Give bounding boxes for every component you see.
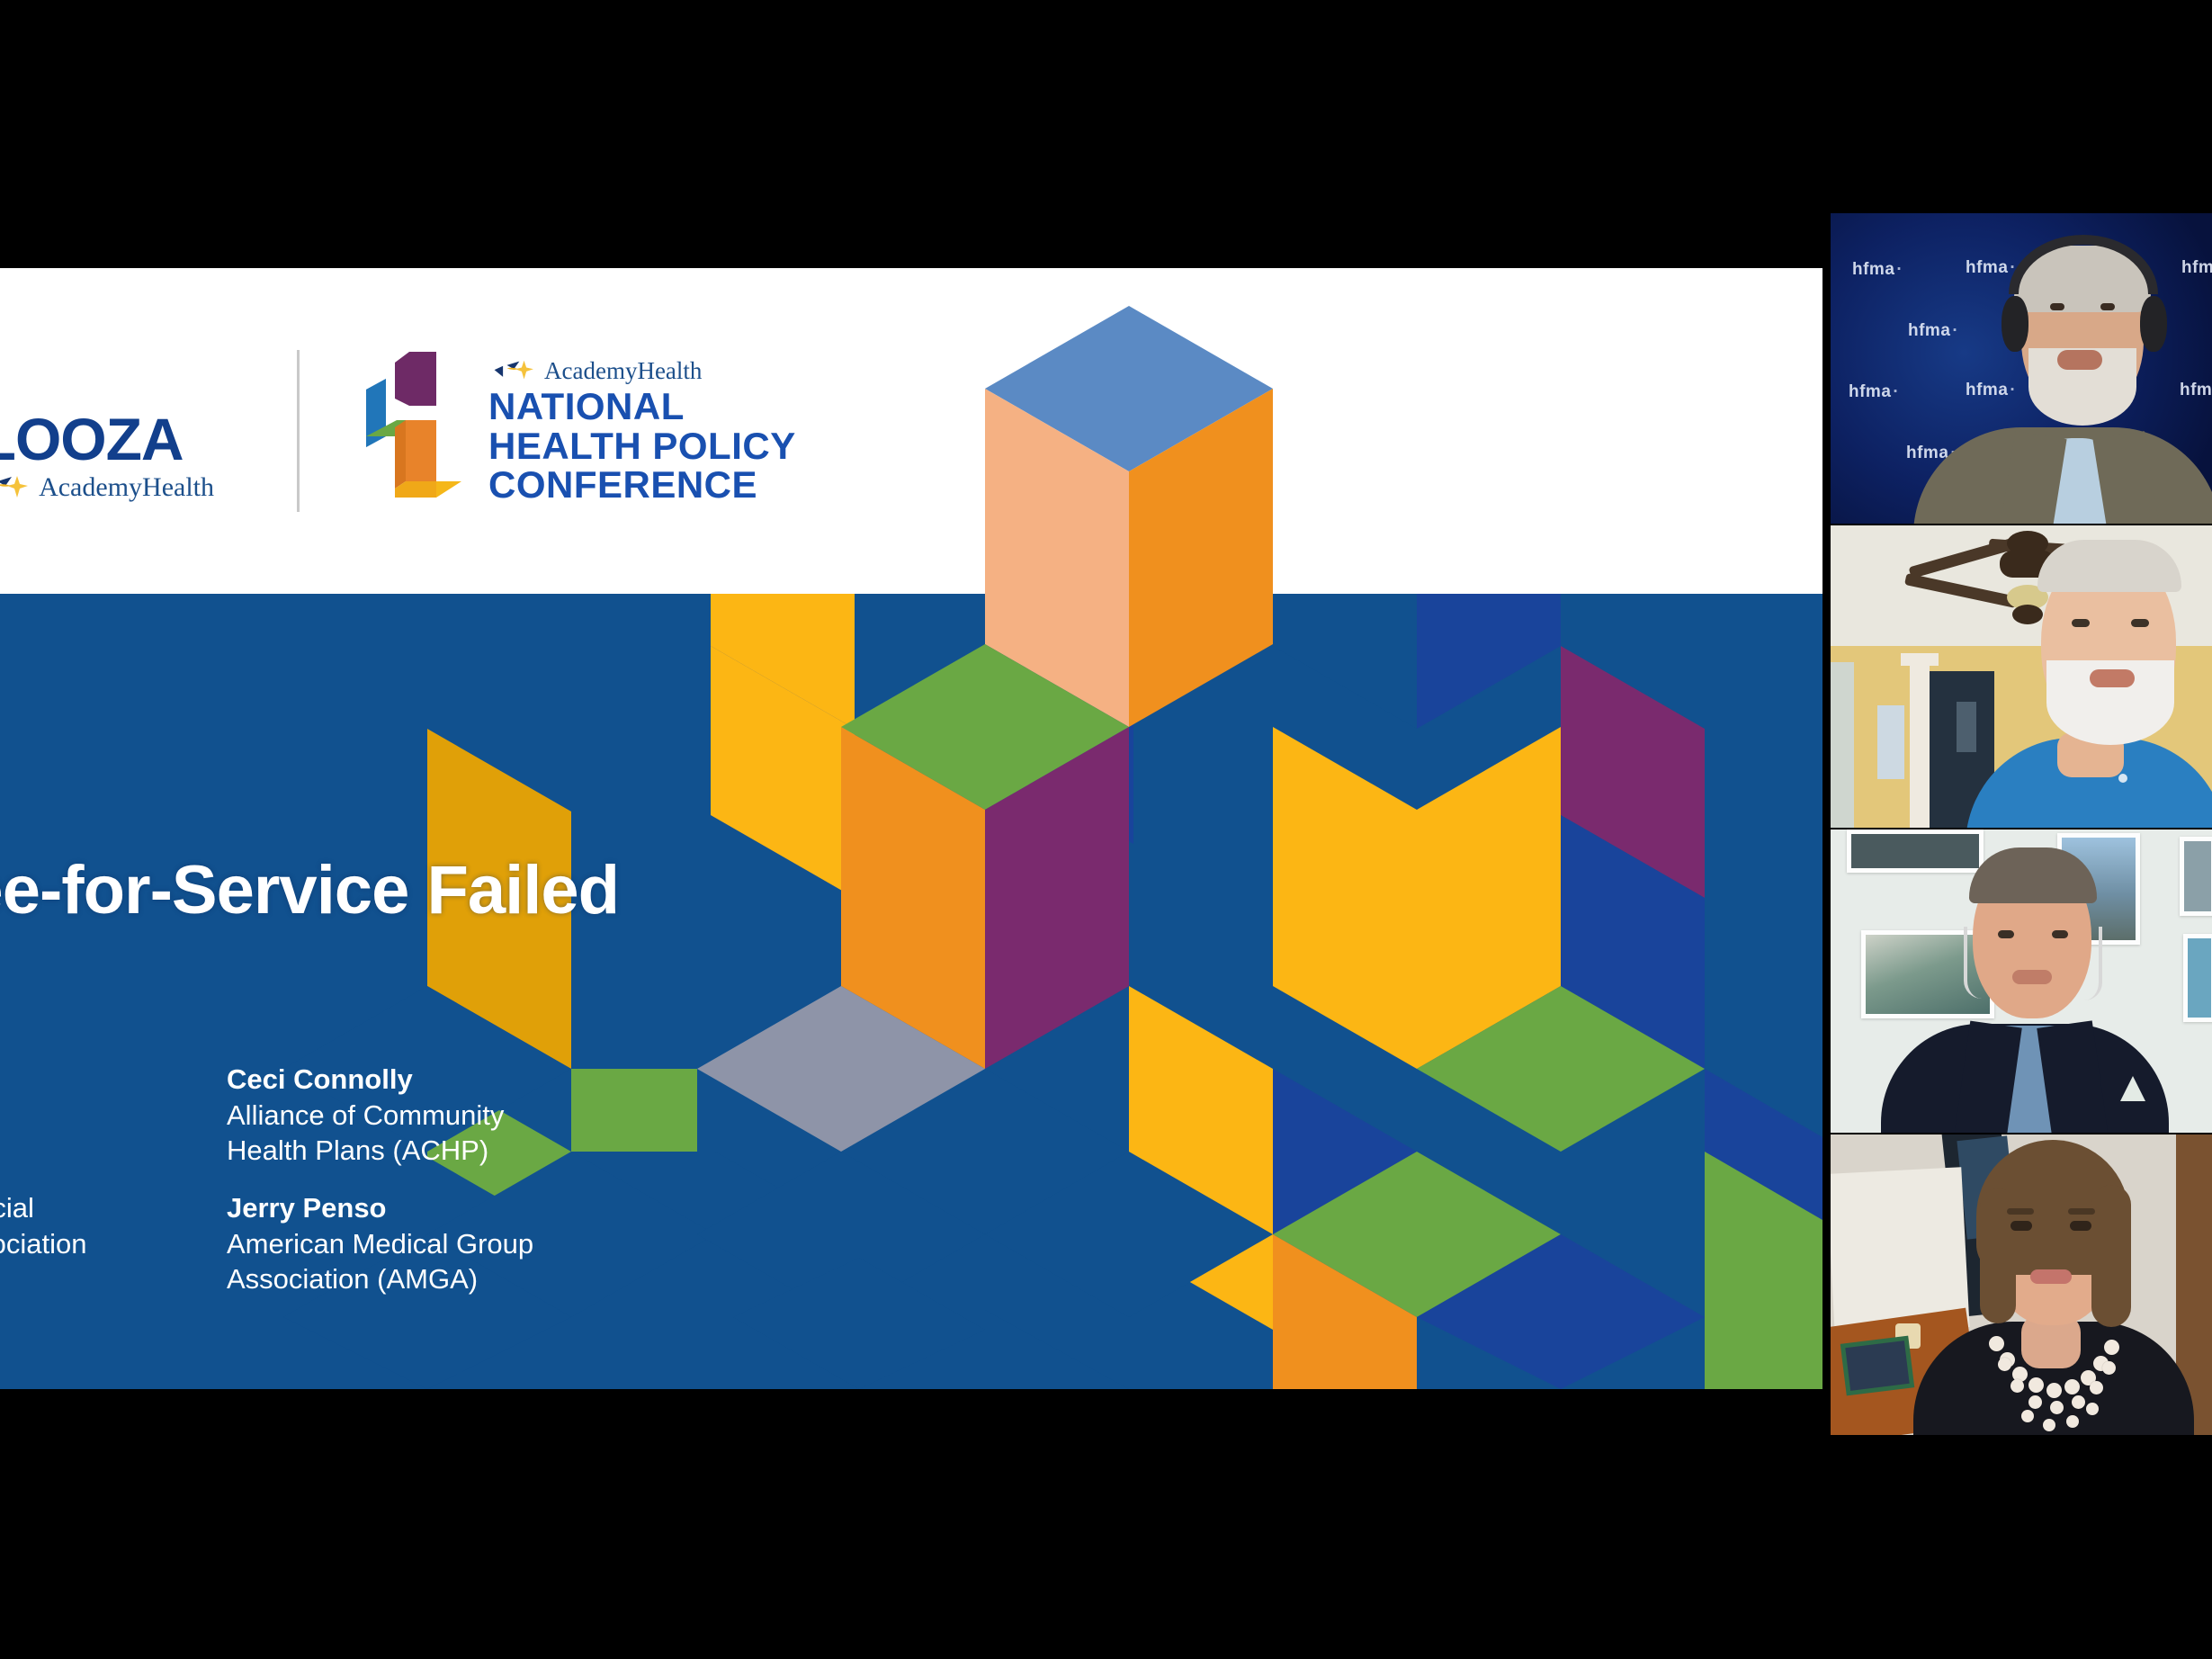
participant-tile-speaker-4[interactable] — [1831, 1134, 2212, 1435]
health-datapalooza-logo: EALTH ATAPALOOZA AcademyHealth — [0, 359, 270, 503]
hfma-watermark: hfma — [1966, 381, 2016, 400]
nhpc-line2: HEALTH POLICY — [488, 426, 796, 466]
datapalooza-line1: EALTH — [0, 359, 270, 411]
academyhealth-wordmark: AcademyHealth — [39, 472, 214, 503]
nhpc-line1: NATIONAL — [488, 387, 796, 426]
academyhealth-star-icon — [0, 474, 33, 501]
participant-video-strip: hfma hfma hfma hfma hfma hfma hfma hfma … — [1831, 213, 2212, 1435]
participant-tile-speaker-2[interactable] — [1831, 525, 2212, 828]
hfma-watermark: hfma — [2180, 381, 2212, 400]
participant-tile-speaker-1[interactable]: hfma hfma hfma hfma hfma hfma hfma hfma … — [1831, 213, 2212, 524]
presenter-4-name: Jerry Penso — [227, 1190, 569, 1226]
academyhealth-wordmark: AcademyHealth — [544, 357, 702, 385]
nhpc-attribution: AcademyHealth — [488, 357, 796, 385]
presenter-2-org: Alliance of Community Health Plans (ACHP… — [227, 1098, 569, 1169]
presenter-2: Ceci Connolly Alliance of Community Heal… — [227, 1062, 569, 1169]
hfma-watermark: hfma — [1852, 260, 1903, 280]
presenter-3: e Financial ent Association — [0, 1190, 169, 1261]
participant-tile-speaker-3[interactable] — [1831, 829, 2212, 1133]
desk-photo-frame — [1840, 1336, 1915, 1396]
nhpc-line3: CONFERENCE — [488, 465, 796, 505]
datapalooza-attribution: AcademyHealth — [0, 472, 270, 503]
nhpc-text-block: AcademyHealth NATIONAL HEALTH POLICY CON… — [488, 357, 796, 505]
hfma-watermark: hfma — [1908, 321, 1958, 341]
logo-divider — [297, 350, 300, 512]
video-conference-stage: EALTH ATAPALOOZA AcademyHealth — [0, 0, 2212, 1659]
academyhealth-star-icon — [492, 359, 539, 382]
presenter-2-name: Ceci Connolly — [227, 1062, 569, 1098]
hfma-watermark: hfma — [2181, 258, 2212, 278]
datapalooza-line2: ATAPALOOZA — [0, 411, 270, 468]
nhpc-logo: AcademyHealth NATIONAL HEALTH POLICY CON… — [355, 350, 796, 512]
hfma-watermark: hfma — [1966, 258, 2016, 278]
whiteboard — [1831, 1167, 1970, 1334]
slide-title: Fee-for-Service Failed — [0, 851, 619, 929]
earbud-wire-icon — [2084, 927, 2102, 1000]
earbud-wire-icon — [1964, 927, 1982, 999]
framed-photo — [1847, 829, 1984, 873]
nhpc-isometric-4-icon — [355, 350, 472, 512]
slide-logo-row: EALTH ATAPALOOZA AcademyHealth — [0, 268, 873, 594]
shared-slide: EALTH ATAPALOOZA AcademyHealth — [0, 268, 1822, 1389]
presenter-4: Jerry Penso American Medical Group Assoc… — [227, 1190, 569, 1297]
presenter-3-org: e Financial ent Association — [0, 1190, 169, 1261]
framed-photo — [2183, 934, 2212, 1022]
presenter-4-org: American Medical Group Association (AMGA… — [227, 1226, 569, 1297]
framed-photo — [2180, 837, 2212, 916]
hfma-watermark: hfma — [1849, 382, 1899, 402]
